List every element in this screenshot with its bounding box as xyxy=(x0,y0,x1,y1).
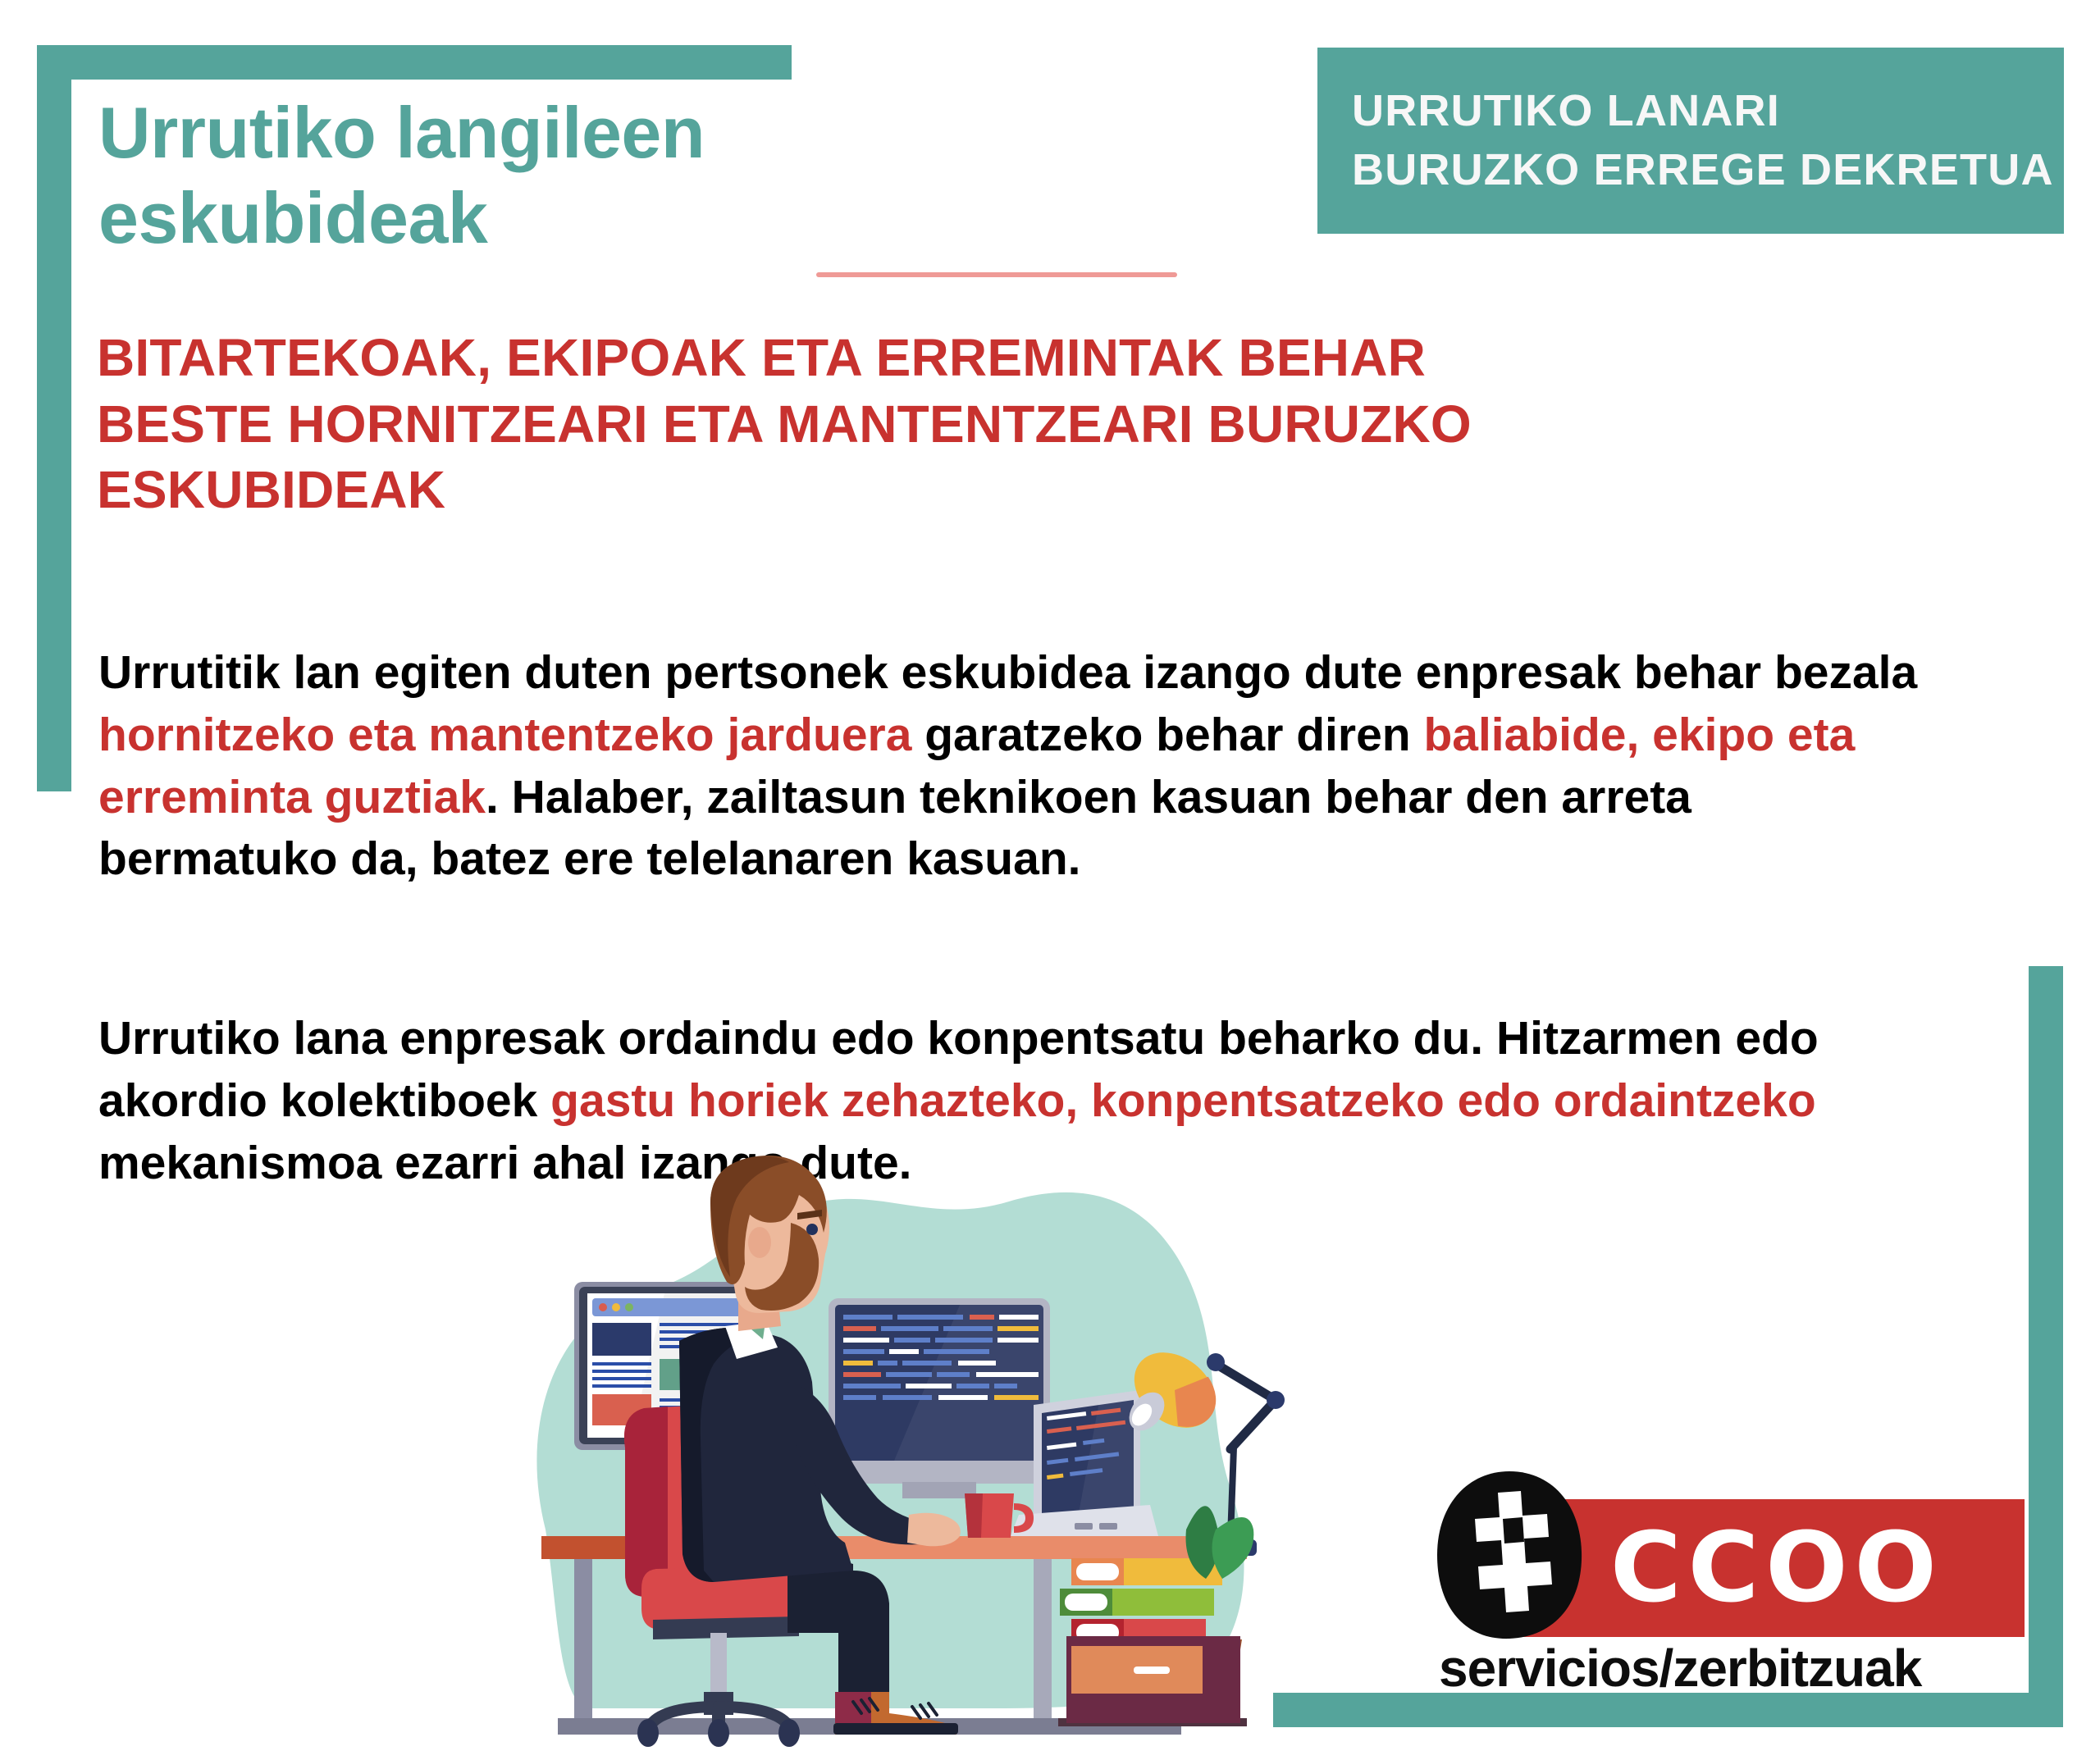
frame-left-bar xyxy=(37,45,71,791)
poster-canvas: Urrutiko langileen eskubideak URRUTIKO L… xyxy=(0,0,2100,1760)
section-heading-line-3: ESKUBIDEAK xyxy=(97,457,1885,523)
section-heading: BITARTEKOAK, EKIPOAK ETA ERREMINTAK BEHA… xyxy=(97,325,1885,523)
decree-badge: URRUTIKO LANARI BURUZKO ERREGE DEKRETUA xyxy=(1317,48,2064,234)
decree-badge-line-1: URRUTIKO LANARI xyxy=(1352,82,2064,140)
remote-worker-illustration xyxy=(468,1144,1296,1759)
frame-bottom-bar xyxy=(1273,1693,2063,1727)
p1-seg-1: Urrutitik lan egiten duten pertsonek esk… xyxy=(98,646,1917,699)
ccoo-logo-subtitle: servicios/zerbitzuak xyxy=(1439,1642,2029,1694)
decree-badge-line-2: BURUZKO ERREGE DEKRETUA xyxy=(1352,141,2064,199)
p1-seg-2: garatzeko behar diren xyxy=(911,709,1423,761)
ccoo-emblem-icon xyxy=(1434,1468,1586,1642)
page-title: Urrutiko langileen eskubideak xyxy=(98,90,919,261)
ccoo-logo: CCOO servicios/zerbitzuak xyxy=(1434,1468,2025,1689)
desktop-monitor-center xyxy=(829,1298,1050,1498)
drawer-cabinet-lower xyxy=(1066,1636,1240,1723)
page-title-line-2: eskubideak xyxy=(98,176,919,261)
body-paragraph-1: Urrutitik lan egiten duten pertsonek esk… xyxy=(98,642,1928,891)
frame-right-bar xyxy=(2029,966,2063,1727)
section-heading-line-1: BITARTEKOAK, EKIPOAK ETA ERREMINTAK BEHA… xyxy=(97,325,1885,391)
frame-top-bar xyxy=(37,45,792,80)
page-title-line-1: Urrutiko langileen xyxy=(98,90,919,176)
p2-highlight-1: gastu horiek zehazteko, konpentsatzeko e… xyxy=(550,1074,1815,1127)
section-heading-line-2: BESTE HORNITZEARI ETA MANTENTZEARI BURUZ… xyxy=(97,391,1885,458)
p1-highlight-1: hornitzeko eta mantentzeko jarduera xyxy=(98,709,911,761)
title-divider-rule xyxy=(816,272,1177,277)
ccoo-logo-letters: CCOO xyxy=(1610,1519,2020,1616)
